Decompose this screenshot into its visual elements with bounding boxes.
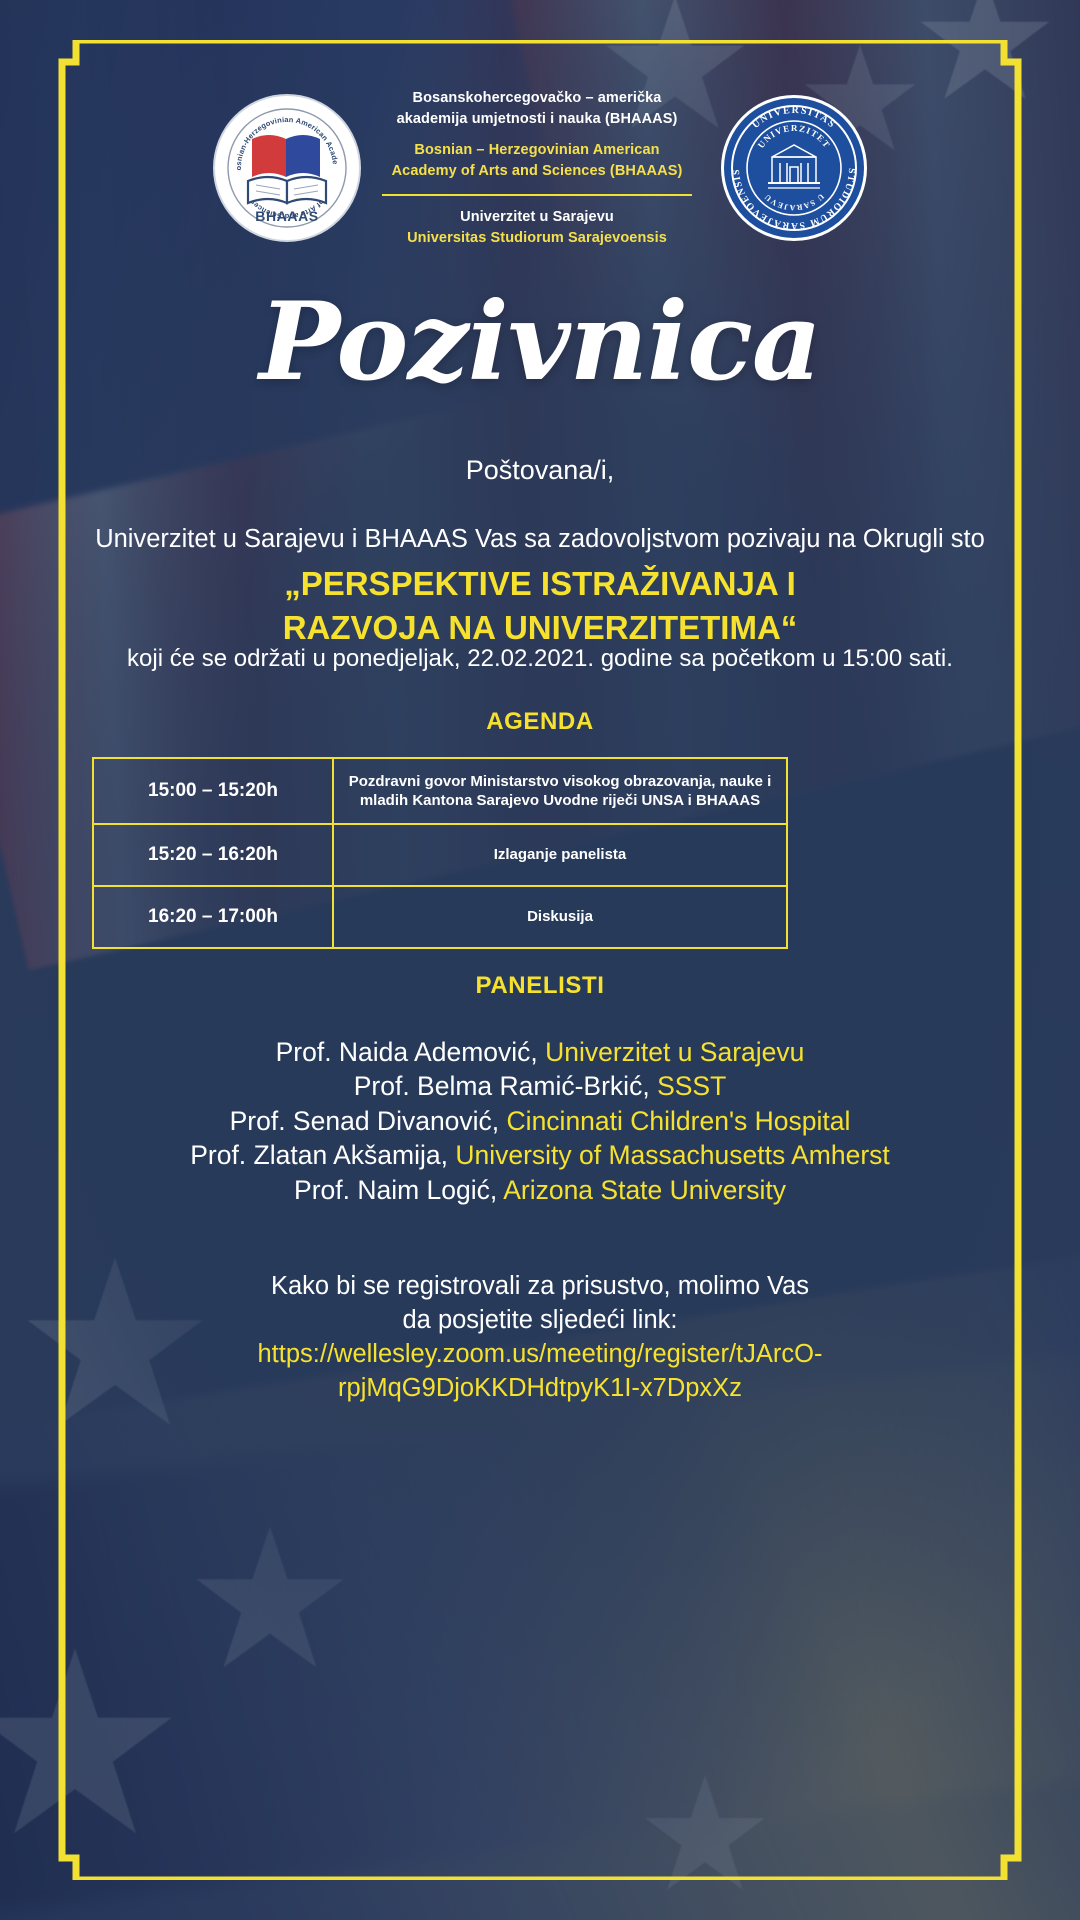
panelist-affiliation: Cincinnati Children's Hospital [507,1106,851,1136]
registration-block: Kako bi se registrovali za prisustvo, mo… [0,1270,1080,1406]
page-title: Pozivnica [0,288,1080,396]
registration-link[interactable]: https://wellesley.zoom.us/meeting/regist… [0,1338,1080,1406]
list-item: Prof. Naida Ademović, Univerzitet u Sara… [0,1035,1080,1069]
panelist-affiliation: Arizona State University [503,1175,786,1205]
registration-line-2: da posjetite sljedeći link: [0,1304,1080,1338]
header-line-bs-1: Bosanskohercegovačko – američka [380,88,695,109]
agenda-heading: AGENDA [0,708,1080,736]
panelist-name: Prof. Belma Ramić-Brkić, [354,1071,650,1101]
university-of-sarajevo-seal: UNIVERSITAS UNIVERZITET STUDIORUM SARAJE… [719,93,869,243]
event-date-line: koji će se održati u ponedjeljak, 22.02.… [0,645,1080,673]
header-line-en-2: Academy of Arts and Sciences (BHAAAS) [380,161,695,182]
event-title-line-1: „PERSPEKTIVE ISTRAŽIVANJA I [0,562,1080,606]
event-title: „PERSPEKTIVE ISTRAŽIVANJA I RAZVOJA NA U… [0,562,1080,650]
header-titles: Bosanskohercegovačko – američka akademij… [380,88,695,248]
registration-link-line-2[interactable]: rpjMqG9DjoKKDHdtpyK1I-x7DpxXz [0,1372,1080,1406]
header-divider [382,194,692,196]
poster-header: Bosnian-Herzegovinian American Academy o… [0,88,1080,248]
event-title-line-2: RAZVOJA NA UNIVERZITETIMA“ [0,606,1080,650]
panelist-affiliation: SSST [657,1071,726,1101]
panelist-name: Prof. Zlatan Akšamija, [190,1140,448,1170]
agenda-description: Izlaganje panelista [333,824,787,886]
agenda-description: Pozdravni govor Ministarstvo visokog obr… [333,758,787,824]
table-row: 16:20 – 17:00h Diskusija [93,886,787,948]
agenda-time: 16:20 – 17:00h [93,886,333,948]
header-line-en-1: Bosnian – Herzegovinian American [380,140,695,161]
panelists-heading: PANELISTI [0,972,1080,1000]
table-row: 15:00 – 15:20h Pozdravni govor Ministars… [93,758,787,824]
list-item: Prof. Senad Divanović, Cincinnati Childr… [0,1104,1080,1138]
agenda-table: 15:00 – 15:20h Pozdravni govor Ministars… [92,757,788,949]
invitation-line: Univerzitet u Sarajevu i BHAAAS Vas sa z… [0,525,1080,554]
panelist-name: Prof. Senad Divanović, [230,1106,500,1136]
panelist-affiliation: Univerzitet u Sarajevu [545,1037,804,1067]
registration-line-1: Kako bi se registrovali za prisustvo, mo… [0,1270,1080,1304]
header-university-bs: Univerzitet u Sarajevu [380,207,695,228]
panelists-list: Prof. Naida Ademović, Univerzitet u Sara… [0,1035,1080,1207]
registration-link-line-1[interactable]: https://wellesley.zoom.us/meeting/regist… [0,1338,1080,1372]
panelist-name: Prof. Naida Ademović, [276,1037,538,1067]
svg-text:BHAAAS: BHAAAS [255,208,319,224]
list-item: Prof. Zlatan Akšamija, University of Mas… [0,1138,1080,1172]
agenda-time: 15:00 – 15:20h [93,758,333,824]
agenda-description: Diskusija [333,886,787,948]
bhaaas-logo: Bosnian-Herzegovinian American Academy o… [212,93,362,243]
list-item: Prof. Naim Logić, Arizona State Universi… [0,1173,1080,1207]
salutation: Poštovana/i, [0,455,1080,486]
panelist-name: Prof. Naim Logić, [294,1175,497,1205]
panelist-affiliation: University of Massachusetts Amherst [455,1140,889,1170]
header-line-bs-2: akademija umjetnosti i nauka (BHAAAS) [380,109,695,130]
header-university-latin: Universitas Studiorum Sarajevoensis [380,228,695,249]
table-row: 15:20 – 16:20h Izlaganje panelista [93,824,787,886]
list-item: Prof. Belma Ramić-Brkić, SSST [0,1069,1080,1103]
agenda-time: 15:20 – 16:20h [93,824,333,886]
